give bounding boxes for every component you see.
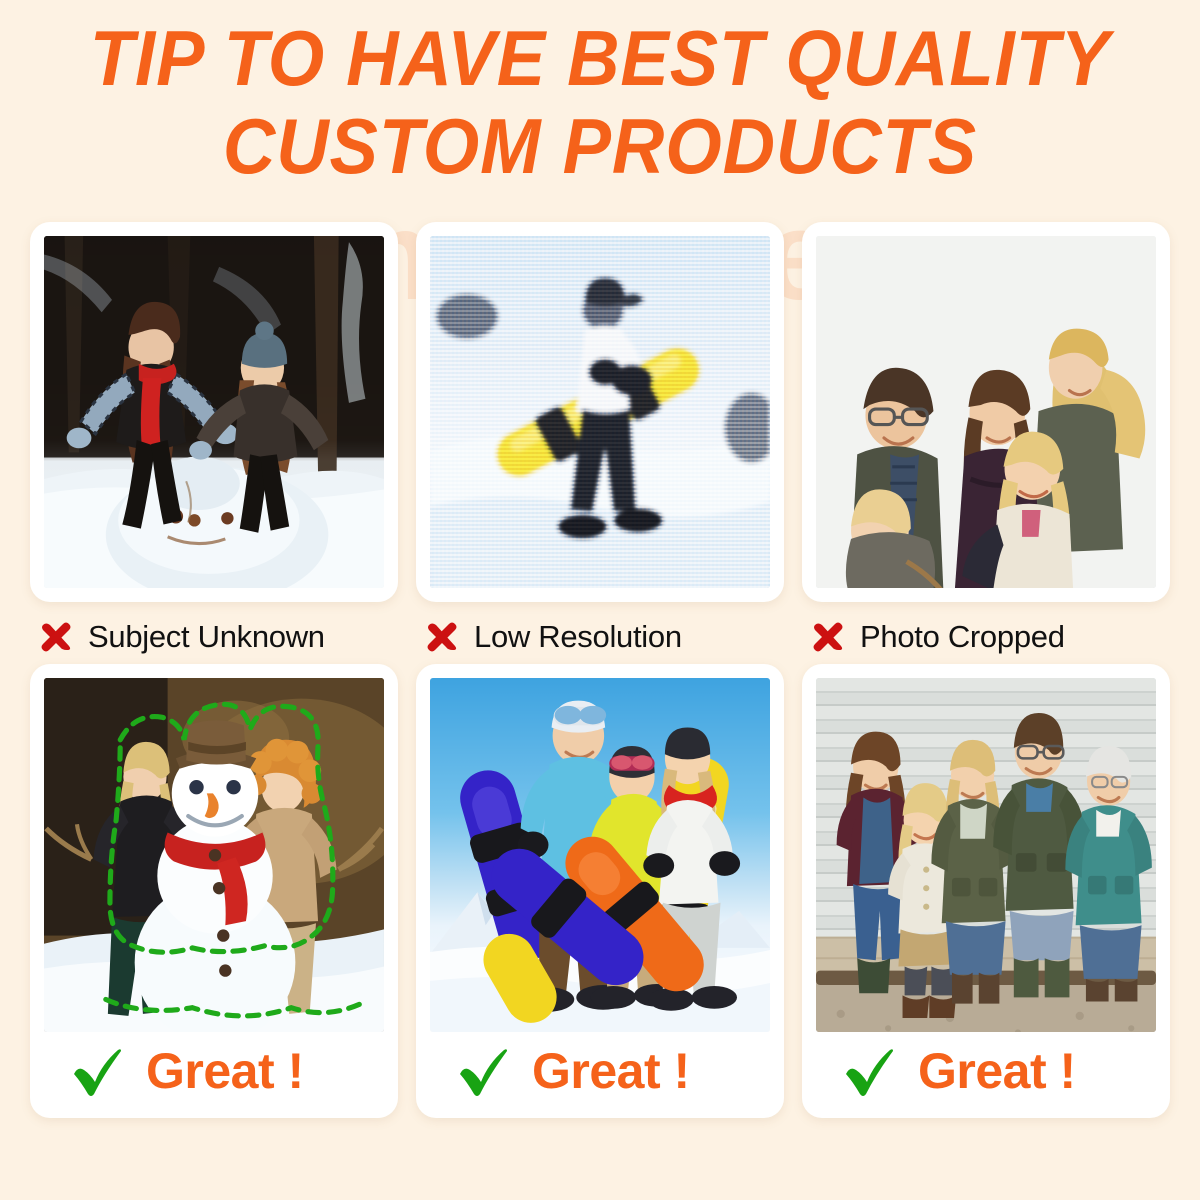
page-title: TIP TO HAVE BEST QUALITY CUSTOM PRODUCTS [42, 14, 1158, 190]
red-x-icon [424, 619, 460, 655]
example-label-text: Great ! [918, 1042, 1076, 1100]
example-cell-low-resolution: Low Resolution [416, 222, 784, 660]
example-cell-subject-unknown: Subject Unknown [30, 222, 398, 660]
photo-card [416, 222, 784, 602]
red-x-icon [810, 619, 846, 655]
example-label-row: Great ! [430, 1032, 770, 1110]
example-label-text: Photo Cropped [860, 619, 1065, 655]
photo-card: Great ! [30, 664, 398, 1118]
example-cell-great-snowman: Great ! [30, 664, 398, 1118]
example-label-row: Low Resolution [416, 614, 784, 660]
photo-snowman-with-green-outline [44, 678, 384, 1032]
photo-pixelated-snowboarder [430, 236, 770, 588]
example-cell-great-snowboarders: Great ! [416, 664, 784, 1118]
green-check-icon [842, 1044, 896, 1098]
example-label-row: Great ! [44, 1032, 384, 1110]
green-check-icon [456, 1044, 510, 1098]
red-x-icon [38, 619, 74, 655]
photo-card [802, 222, 1170, 602]
examples-grid: Subject Unknown [30, 222, 1170, 1118]
photo-card: Great ! [416, 664, 784, 1118]
example-cell-great-family: Great ! [802, 664, 1170, 1118]
example-label-text: Subject Unknown [88, 619, 325, 655]
example-label-text: Great ! [532, 1042, 690, 1100]
photo-family-by-wooden-wall [816, 678, 1156, 1032]
photo-two-women-building-snowman [44, 236, 384, 588]
page-title-line-2: CUSTOM PRODUCTS [42, 102, 1158, 190]
green-check-icon [70, 1044, 124, 1098]
example-cell-photo-cropped: Photo Cropped [802, 222, 1170, 660]
example-label-row: Photo Cropped [802, 614, 1170, 660]
example-label-text: Low Resolution [474, 619, 682, 655]
example-label-text: Great ! [146, 1042, 304, 1100]
photo-card [30, 222, 398, 602]
example-label-row: Great ! [816, 1032, 1156, 1110]
photo-three-snowboarders [430, 678, 770, 1032]
photo-card: Great ! [802, 664, 1170, 1118]
page-title-line-1: TIP TO HAVE BEST QUALITY [42, 14, 1158, 102]
example-label-row: Subject Unknown [30, 614, 398, 660]
photo-family-cropped [816, 236, 1156, 588]
